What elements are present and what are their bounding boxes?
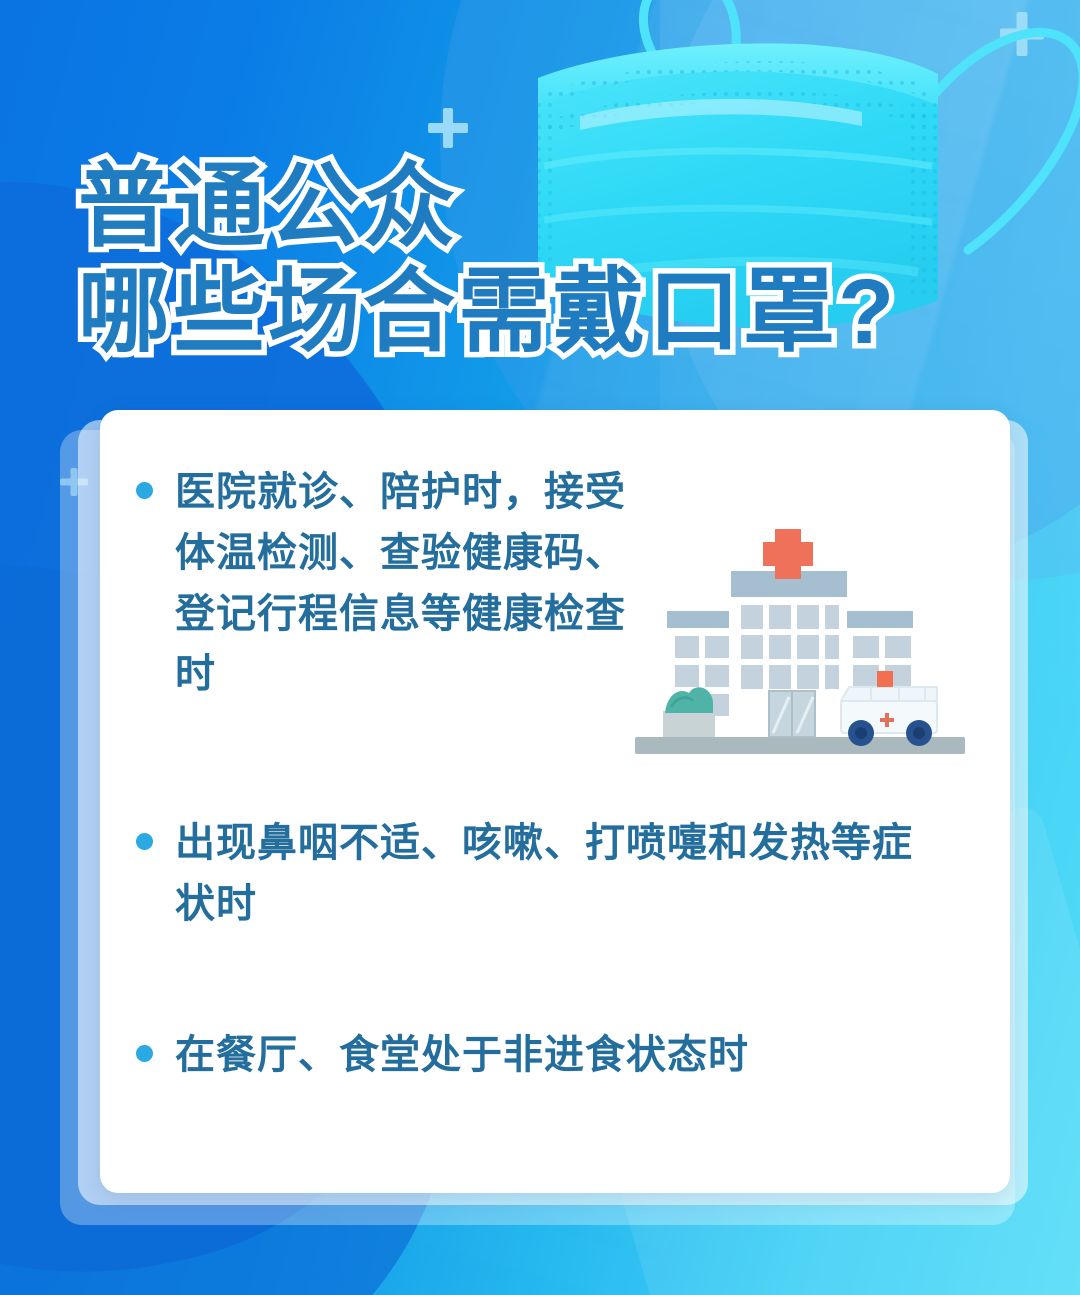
- title-line-2: 哪些场合需戴口罩?: [78, 260, 897, 365]
- bullet-item-hospital-visit: 医院就诊、陪护时，接受体温检测、查验健康码、登记行程信息等健康检查时: [136, 462, 980, 705]
- bullet-text-symptoms: 出现鼻咽不适、咳嗽、打喷嚏和发热等症状时: [175, 813, 935, 935]
- bullet-text-restaurant: 在餐厅、食堂处于非进食状态时: [175, 1025, 935, 1086]
- poster-root: 普通公众 哪些场合需戴口罩?: [0, 0, 1080, 1295]
- bullet-dot-icon: [136, 482, 153, 499]
- content-card: 医院就诊、陪护时，接受体温检测、查验健康码、登记行程信息等健康检查时 出现鼻咽不…: [100, 410, 1010, 1193]
- bullet-text-hospital-visit: 医院就诊、陪护时，接受体温检测、查验健康码、登记行程信息等健康检查时: [175, 462, 645, 705]
- poster-title: 普通公众 哪些场合需戴口罩?: [78, 155, 897, 365]
- title-line-1: 普通公众: [78, 155, 897, 260]
- bullet-item-symptoms: 出现鼻咽不适、咳嗽、打喷嚏和发热等症状时: [136, 813, 980, 935]
- bullet-dot-icon: [136, 1045, 153, 1062]
- bullet-list: 医院就诊、陪护时，接受体温检测、查验健康码、登记行程信息等健康检查时 出现鼻咽不…: [136, 456, 980, 1086]
- bullet-item-restaurant: 在餐厅、食堂处于非进食状态时: [136, 1025, 980, 1086]
- bullet-dot-icon: [136, 833, 153, 850]
- plus-mark-upper-left-icon: [428, 108, 468, 148]
